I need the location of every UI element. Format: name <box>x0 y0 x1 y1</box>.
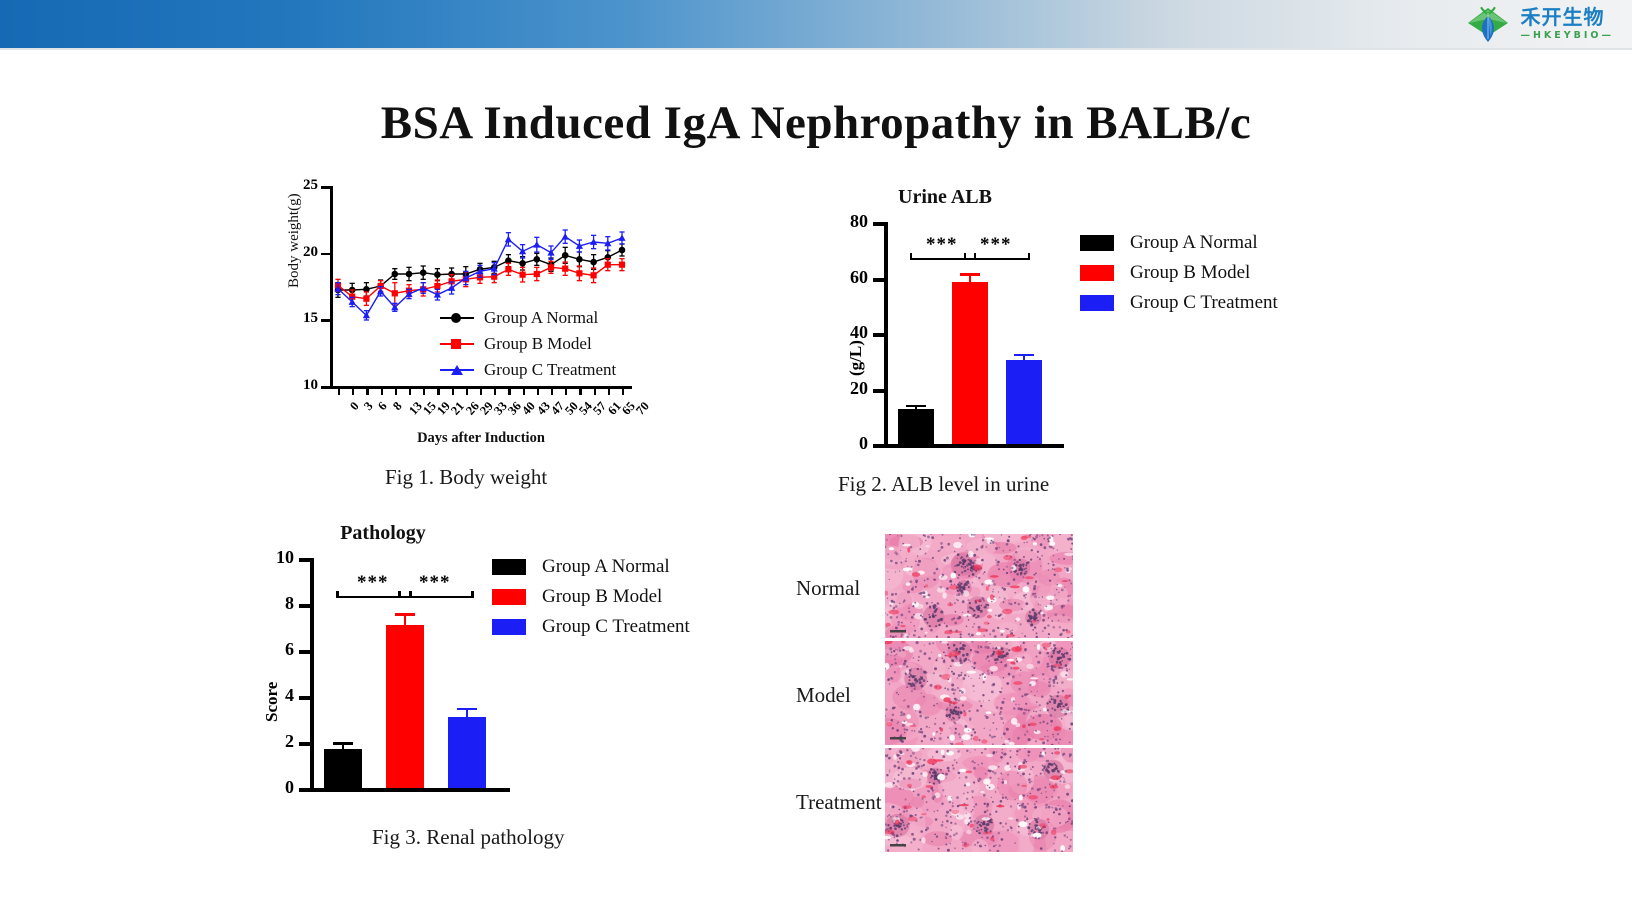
fig1-legend-label: Group C Treatment <box>484 360 616 380</box>
logo-wordmark: 禾开生物 —HKEYBIO— <box>1520 7 1614 41</box>
logo-text-en: —HKEYBIO— <box>1520 31 1614 41</box>
fig3-significance-stars: *** <box>357 572 389 594</box>
fig2-y-tick-label: 60 <box>822 267 868 288</box>
fig2-legend-item-group-c-treatment: Group C Treatment <box>1080 292 1278 314</box>
fig1-x-tick <box>537 386 539 395</box>
fig1-x-tick <box>466 386 468 395</box>
fig3-x-axis <box>310 788 510 792</box>
fig1-legend-label: Group B Model <box>484 334 592 354</box>
fig3-significance-tick <box>336 591 338 597</box>
fig1-y-tick-label: 20 <box>303 244 318 261</box>
fig1-x-tick <box>452 386 454 395</box>
fig2-legend-label: Group B Model <box>1130 262 1250 284</box>
fig3-error-cap <box>395 613 415 616</box>
fig3-plot-area: 0246810****** <box>310 558 510 788</box>
he-stained-kidney-section-model <box>885 641 1073 745</box>
fig1-x-tick-label: 3 <box>361 399 376 414</box>
fig1-legend-marker-circle-icon <box>451 313 461 323</box>
fig2-legend-item-group-a-normal: Group A Normal <box>1080 232 1278 254</box>
fig1-legend-item-group-b-model: Group B Model <box>440 331 616 357</box>
fig2-y-tick-label: 80 <box>822 211 868 232</box>
fig1-legend-item-group-c-treatment: Group C Treatment <box>440 357 616 383</box>
fig1-y-tick <box>321 186 330 189</box>
fig2-error-bar <box>969 273 972 291</box>
fig2-legend-label: Group C Treatment <box>1130 292 1278 314</box>
figure-3-caption: Fig 3. Renal pathology <box>372 825 565 850</box>
fig1-x-tick-label: 8 <box>390 399 405 414</box>
figure-3-pathology-chart: Pathology Score 0246810****** Group A No… <box>250 522 680 812</box>
fig2-significance-bar <box>964 258 1031 260</box>
fig1-x-tick <box>551 386 553 395</box>
figure-1-caption: Fig 1. Body weight <box>385 465 547 490</box>
fig1-legend-line <box>440 343 474 346</box>
fig3-error-cap <box>457 708 477 711</box>
fig3-y-tick-label: 0 <box>248 777 294 798</box>
fig2-y-axis <box>884 222 888 448</box>
fig3-y-tick <box>299 696 310 700</box>
fig2-significance-tick <box>910 253 912 259</box>
fig3-bar <box>386 625 424 788</box>
fig1-x-axis-label: Days after Induction <box>330 430 632 447</box>
fig2-y-tick <box>873 278 884 282</box>
fig3-legend-swatch <box>492 619 526 635</box>
fig3-y-tick <box>299 558 310 562</box>
header-band <box>0 0 1632 48</box>
figure-2-urine-alb-chart: Urine ALB (g/L) 020406080****** Group A … <box>830 186 1260 466</box>
fig1-x-tick <box>622 386 624 395</box>
fig1-x-tick <box>381 386 383 395</box>
fig2-y-tick-label: 40 <box>822 322 868 343</box>
fig2-y-tick-label: 20 <box>822 378 868 399</box>
fig2-significance-tick <box>964 253 966 259</box>
fig1-x-tick <box>409 386 411 395</box>
fig1-x-tick <box>437 386 439 395</box>
fig1-y-tick-label: 25 <box>303 177 318 194</box>
fig1-x-tick-label: 6 <box>375 399 390 414</box>
fig3-y-tick-label: 4 <box>248 685 294 706</box>
fig3-legend-swatch <box>492 589 526 605</box>
fig1-x-tick <box>565 386 567 395</box>
fig3-y-tick-label: 2 <box>248 731 294 752</box>
fig2-legend-swatch <box>1080 235 1114 251</box>
fig3-legend-label: Group B Model <box>542 586 662 608</box>
fig3-significance-bar <box>398 596 474 598</box>
fig1-x-tick <box>608 386 610 395</box>
fig3-significance-stars: *** <box>419 572 451 594</box>
fig3-legend-item-group-a-normal: Group A Normal <box>492 556 690 578</box>
fig2-error-cap <box>906 405 926 408</box>
fig2-y-tick <box>873 333 884 337</box>
fig1-x-tick <box>579 386 581 395</box>
fig3-y-tick <box>299 650 310 654</box>
fig1-x-tick <box>523 386 525 395</box>
fig3-y-tick-label: 6 <box>248 639 294 660</box>
fig3-significance-tick <box>398 591 400 597</box>
he-stained-kidney-section-normal <box>885 534 1073 638</box>
fig3-error-bar <box>466 708 469 726</box>
fig1-y-tick <box>321 386 330 389</box>
fig2-legend-swatch <box>1080 265 1114 281</box>
fig1-x-tick <box>480 386 482 395</box>
figure-1-body-weight-chart: Body weight(g) 10152025 0368131519212629… <box>290 180 650 450</box>
page-title: BSA Induced IgA Nephropathy in BALB/c <box>0 96 1632 150</box>
fig1-x-tick-label: 0 <box>347 399 362 414</box>
fig2-y-tick <box>873 222 884 226</box>
fig1-x-tick <box>395 386 397 395</box>
fig3-bar <box>448 717 486 788</box>
fig2-significance-tick <box>1028 253 1030 259</box>
fig1-legend-line <box>440 369 474 372</box>
fig3-significance-tick <box>471 591 473 597</box>
fig2-y-axis-label: (g/L) <box>846 340 866 376</box>
fig1-x-tick <box>594 386 596 395</box>
histology-label-model: Model <box>796 683 851 708</box>
fig1-x-tick <box>494 386 496 395</box>
logo-text-cn: 禾开生物 <box>1520 7 1614 27</box>
header-divider <box>0 48 1632 50</box>
fig1-x-tick <box>423 386 425 395</box>
fig2-significance-stars: *** <box>980 234 1012 256</box>
fig1-legend-label: Group A Normal <box>484 308 598 328</box>
fig2-legend-swatch <box>1080 295 1114 311</box>
fig3-y-tick <box>299 604 310 608</box>
fig3-y-tick <box>299 788 310 792</box>
fig2-y-tick <box>873 444 884 448</box>
fig1-y-tick-label: 15 <box>303 310 318 327</box>
figure-2-caption: Fig 2. ALB level in urine <box>838 472 1049 497</box>
fig3-y-tick-label: 10 <box>248 547 294 568</box>
fig3-y-axis <box>310 558 314 792</box>
fig2-plot-area: 020406080****** <box>884 222 1064 444</box>
fig2-y-tick-label: 0 <box>822 433 868 454</box>
fig1-y-axis-label: Body weight(g) <box>286 193 303 288</box>
fig3-legend-item-group-c-treatment: Group C Treatment <box>492 616 690 638</box>
fig3-y-tick-label: 8 <box>248 593 294 614</box>
fig1-y-tick <box>321 253 330 256</box>
company-logo: 禾开生物 —HKEYBIO— <box>1465 3 1614 45</box>
histology-label-normal: Normal <box>796 576 860 601</box>
fig2-significance-stars: *** <box>926 234 958 256</box>
fig2-bar <box>1006 360 1042 444</box>
fig1-x-tick <box>338 386 340 395</box>
fig1-y-tick-label: 10 <box>303 377 318 394</box>
fig1-legend-item-group-a-normal: Group A Normal <box>440 305 616 331</box>
fig1-y-tick <box>321 319 330 322</box>
fig2-error-cap <box>1014 354 1034 357</box>
fig1-legend-line <box>440 317 474 320</box>
fig3-error-bar <box>404 613 407 636</box>
fig3-legend-label: Group C Treatment <box>542 616 690 638</box>
fig3-legend-item-group-b-model: Group B Model <box>492 586 690 608</box>
fig1-legend-marker-square-icon <box>451 339 461 349</box>
fig1-x-tick-label: 70 <box>633 399 653 418</box>
histology-label-treatment: Treatment <box>796 790 882 815</box>
fig3-title: Pathology <box>268 522 498 545</box>
fig1-legend: Group A NormalGroup B ModelGroup C Treat… <box>440 305 616 383</box>
fig3-error-cap <box>333 742 353 745</box>
he-stained-kidney-section-treatment <box>885 748 1073 852</box>
fig2-bar <box>898 409 934 444</box>
fig3-y-tick <box>299 742 310 746</box>
fig3-legend-label: Group A Normal <box>542 556 670 578</box>
fig3-legend: Group A NormalGroup B ModelGroup C Treat… <box>492 556 690 646</box>
fig2-legend: Group A NormalGroup B ModelGroup C Treat… <box>1080 232 1278 322</box>
fig2-legend-item-group-b-model: Group B Model <box>1080 262 1278 284</box>
fig2-x-axis <box>884 444 1064 448</box>
fig1-legend-marker-triangle-icon <box>451 365 463 375</box>
fig1-x-tick <box>366 386 368 395</box>
fig1-x-tick <box>352 386 354 395</box>
fig2-legend-label: Group A Normal <box>1130 232 1258 254</box>
fig1-x-tick <box>508 386 510 395</box>
fig2-bar <box>952 282 988 444</box>
fig2-title: Urine ALB <box>830 186 1060 209</box>
fig2-y-tick <box>873 389 884 393</box>
leaf-droplet-logo-icon <box>1465 3 1511 45</box>
fig2-error-cap <box>960 273 980 276</box>
fig3-legend-swatch <box>492 559 526 575</box>
